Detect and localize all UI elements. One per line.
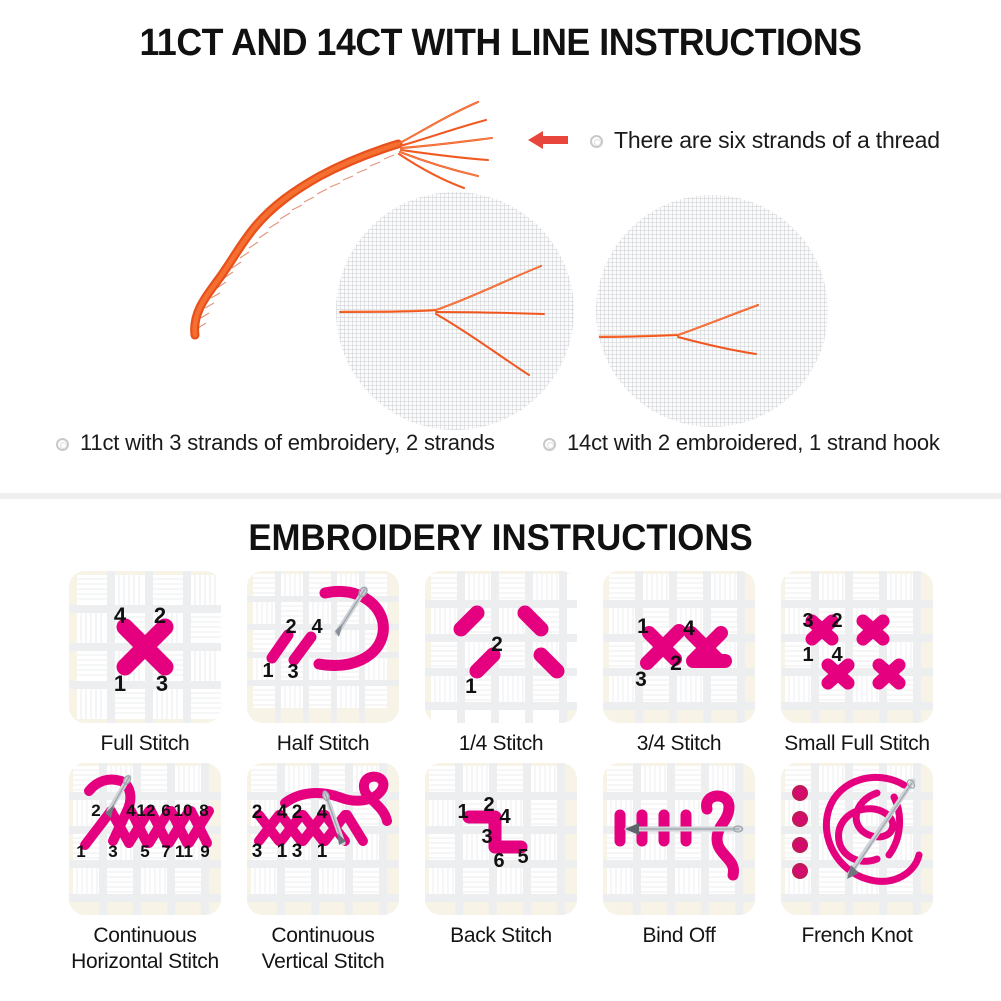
svg-text:4: 4: [499, 806, 511, 828]
fabric-circle-14ct: [596, 195, 828, 427]
stitch-diagram-full-stitch: 4 2 1 3: [69, 571, 221, 723]
svg-text:9: 9: [200, 842, 209, 861]
caption-11ct-text: 11ct with 3 strands of embroidery, 2 str…: [80, 430, 495, 456]
page-title-embroidery: EMBROIDERY INSTRUCTIONS: [30, 517, 971, 559]
svg-text:4: 4: [114, 603, 127, 628]
svg-text:3: 3: [481, 826, 492, 848]
fabric-captions: 11ct with 3 strands of embroidery, 2 str…: [0, 430, 1001, 470]
stitch-diagram-continuous-vertical-stitch: 2 4 2 4 3 1 3 1: [247, 763, 399, 915]
svg-text:12: 12: [137, 801, 156, 820]
stitch-label: Continuous Horizontal Stitch: [71, 923, 219, 975]
stitch-label: French Knot: [801, 923, 912, 949]
svg-text:2: 2: [670, 652, 682, 675]
caption-14ct: 14ct with 2 embroidered, 1 strand hook: [543, 430, 940, 456]
line-instructions-section: 11CT AND 14CT WITH LINE INSTRUCTIONS: [0, 0, 1001, 493]
stitch-cell-bind-off: Bind Off: [594, 763, 764, 975]
stitch-label: Half Stitch: [277, 731, 369, 757]
instruction-sheet: 11CT AND 14CT WITH LINE INSTRUCTIONS: [0, 0, 1001, 1001]
stitch-label: Bind Off: [642, 923, 715, 949]
svg-text:4: 4: [317, 802, 328, 823]
bullet-ring-icon: [56, 438, 69, 451]
svg-text:1: 1: [114, 671, 126, 696]
stitch-diagram-small-full-stitch: 3 2 1 4: [781, 571, 933, 723]
svg-text:4: 4: [683, 617, 695, 640]
svg-text:3: 3: [156, 671, 168, 696]
stitch-diagram-bind-off: [603, 763, 755, 915]
bullet-ring-icon: [590, 135, 603, 148]
stitch-cell-continuous-horizontal-stitch: 2 4 12 6 10 8 1 3 5 7 11 9: [60, 763, 230, 975]
stitch-diagram-french-knot: [781, 763, 933, 915]
svg-text:1: 1: [76, 842, 85, 861]
svg-text:2: 2: [285, 616, 296, 638]
svg-text:2: 2: [491, 633, 503, 656]
svg-text:5: 5: [517, 846, 528, 868]
svg-text:2: 2: [483, 794, 494, 816]
svg-text:2: 2: [831, 610, 842, 632]
caption-14ct-text: 14ct with 2 embroidered, 1 strand hook: [567, 430, 940, 456]
svg-text:4: 4: [126, 801, 136, 820]
page-title-line-instructions: 11CT AND 14CT WITH LINE INSTRUCTIONS: [30, 22, 971, 65]
svg-text:11: 11: [175, 842, 193, 861]
svg-text:1: 1: [262, 660, 273, 682]
svg-text:6: 6: [161, 801, 170, 820]
stitch-cell-three-quarter-stitch: 1 4 2 3 3/4 Stitch: [594, 571, 764, 757]
fabric-circle-11ct: [336, 192, 574, 430]
embroidery-instructions-section: EMBROIDERY INSTRUCTIONS: [0, 499, 1001, 1001]
stitch-cell-full-stitch: 4 2 1 3 Full Stitch: [60, 571, 230, 757]
svg-text:2: 2: [91, 801, 100, 820]
stitch-label: Continuous Vertical Stitch: [262, 923, 385, 975]
svg-text:1: 1: [277, 841, 288, 862]
svg-text:3: 3: [635, 668, 647, 691]
svg-text:3: 3: [252, 841, 263, 862]
svg-text:4: 4: [311, 616, 323, 638]
svg-text:4: 4: [831, 644, 843, 666]
svg-text:2: 2: [292, 802, 303, 823]
stitch-cell-small-full-stitch: 3 2 1 4 Small Full Stitch: [772, 571, 942, 757]
svg-text:1: 1: [465, 675, 477, 698]
stitch-cell-back-stitch: 1 2 4 3 6 5 Back Stitch: [416, 763, 586, 975]
bullet-ring-icon: [543, 438, 556, 451]
svg-text:8: 8: [199, 801, 208, 820]
stitch-cell-french-knot: French Knot: [772, 763, 942, 975]
six-strands-text: There are six strands of a thread: [614, 127, 940, 154]
svg-text:4: 4: [277, 802, 288, 823]
svg-text:1: 1: [317, 841, 328, 862]
svg-text:1: 1: [637, 615, 649, 638]
svg-text:5: 5: [140, 842, 149, 861]
svg-text:6: 6: [493, 850, 504, 872]
stitch-cell-half-stitch: 2 4 1 3 Half Stitch: [238, 571, 408, 757]
svg-text:3: 3: [802, 610, 813, 632]
svg-text:3: 3: [287, 661, 298, 683]
stitch-diagram-continuous-horizontal-stitch: 2 4 12 6 10 8 1 3 5 7 11 9: [69, 763, 221, 915]
svg-text:3: 3: [292, 841, 303, 862]
svg-text:2: 2: [154, 603, 166, 628]
svg-text:3: 3: [108, 842, 117, 861]
six-strands-callout: There are six strands of a thread: [528, 123, 940, 157]
svg-text:7: 7: [161, 842, 170, 861]
stitch-diagram-half-stitch: 2 4 1 3: [247, 571, 399, 723]
svg-text:10: 10: [174, 801, 193, 820]
stitch-grid: 4 2 1 3 Full Stitch: [60, 571, 950, 981]
stitch-cell-continuous-vertical-stitch: 2 4 2 4 3 1 3 1 Continuous Vertical Stit…: [238, 763, 408, 975]
stitch-label: 1/4 Stitch: [459, 731, 544, 757]
arrow-left-icon: [528, 129, 568, 151]
svg-text:2: 2: [252, 802, 263, 823]
stitch-diagram-quarter-stitch: 2 1: [425, 571, 577, 723]
stitch-label: Back Stitch: [450, 923, 552, 949]
stitch-label: 3/4 Stitch: [637, 731, 722, 757]
svg-text:1: 1: [802, 644, 813, 666]
stitch-label: Full Stitch: [101, 731, 190, 757]
stitch-label: Small Full Stitch: [784, 731, 929, 757]
caption-11ct: 11ct with 3 strands of embroidery, 2 str…: [56, 430, 495, 456]
stitch-cell-quarter-stitch: 2 1 1/4 Stitch: [416, 571, 586, 757]
stitch-diagram-back-stitch: 1 2 4 3 6 5: [425, 763, 577, 915]
stitch-diagram-three-quarter-stitch: 1 4 2 3: [603, 571, 755, 723]
svg-text:1: 1: [457, 801, 468, 823]
